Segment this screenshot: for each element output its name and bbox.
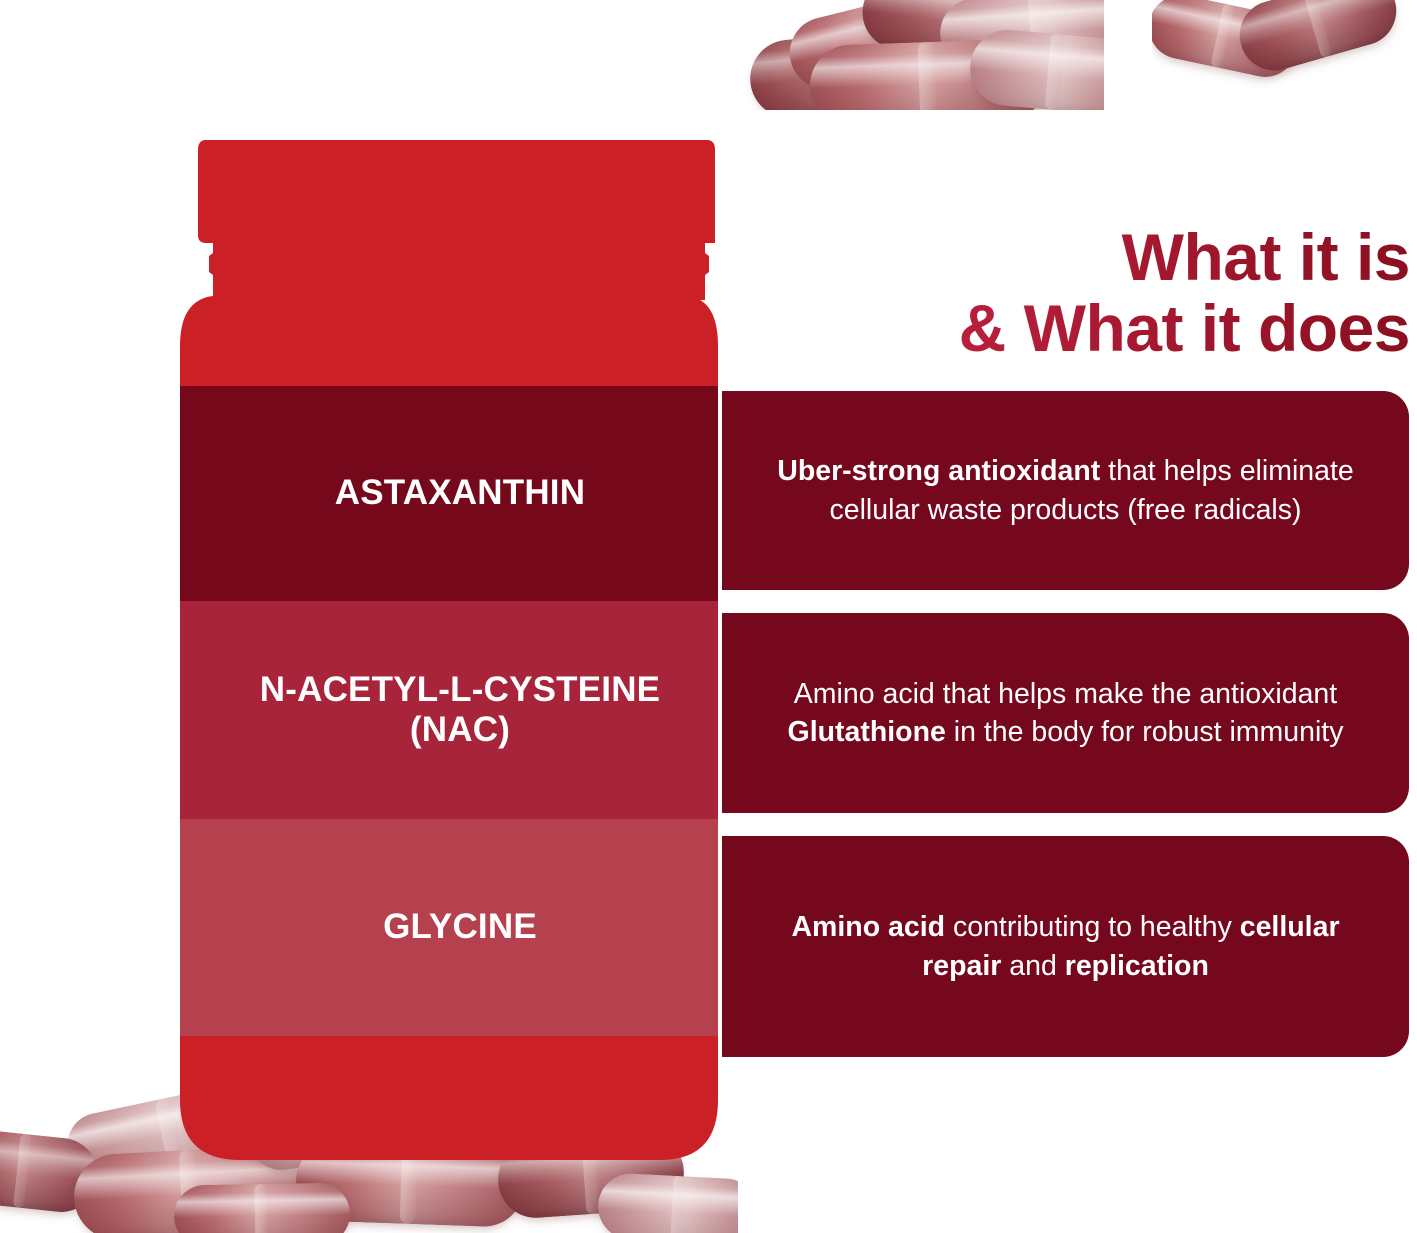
ingredient-name-text: N-ACETYL-L-CYSTEINE (NAC) xyxy=(260,670,660,751)
ingredient-name-text: GLYCINE xyxy=(383,907,537,947)
capsule xyxy=(938,0,1104,71)
capsule-cluster-top-center xyxy=(744,0,1104,110)
bottle-shoulder xyxy=(180,296,718,392)
capsule xyxy=(782,0,990,97)
infographic-canvas: ASTAXANTHIN N-ACETYL-L-CYSTEINE (NAC) GL… xyxy=(0,0,1417,1233)
ingredient-name-text: ASTAXANTHIN xyxy=(335,473,585,513)
description-text: Amino acid contributing to healthy cellu… xyxy=(768,908,1363,984)
capsule xyxy=(967,27,1104,110)
capsule xyxy=(809,38,1048,110)
capsule xyxy=(1152,0,1303,83)
description-text: Amino acid that helps make the antioxida… xyxy=(768,675,1363,751)
page-title-line-2: & What it does xyxy=(760,293,1410,364)
page-title: What it is & What it does xyxy=(760,222,1410,365)
description-panel-astaxanthin: Uber-strong antioxidant that helps elimi… xyxy=(722,391,1409,590)
ingredient-name-line2: (NAC) xyxy=(410,710,510,749)
bottle-cap xyxy=(198,140,715,243)
ingredient-name-glycine: GLYCINE xyxy=(180,819,740,1036)
capsule-cluster-top-right xyxy=(1152,0,1417,96)
description-text: Uber-strong antioxidant that helps elimi… xyxy=(768,452,1363,528)
page-title-line-1: What it is xyxy=(760,222,1410,293)
capsule xyxy=(858,0,1079,71)
description-panel-glycine: Amino acid contributing to healthy cellu… xyxy=(722,836,1409,1057)
description-panel-nac: Amino acid that helps make the antioxida… xyxy=(722,613,1409,813)
ingredient-name-line1: N-ACETYL-L-CYSTEINE xyxy=(260,670,660,709)
ingredient-name-nac: N-ACETYL-L-CYSTEINE (NAC) xyxy=(180,601,740,819)
capsule xyxy=(746,28,903,110)
ingredient-name-astaxanthin: ASTAXANTHIN xyxy=(180,386,740,601)
capsule xyxy=(1231,0,1404,79)
bottle-neck xyxy=(209,243,709,300)
